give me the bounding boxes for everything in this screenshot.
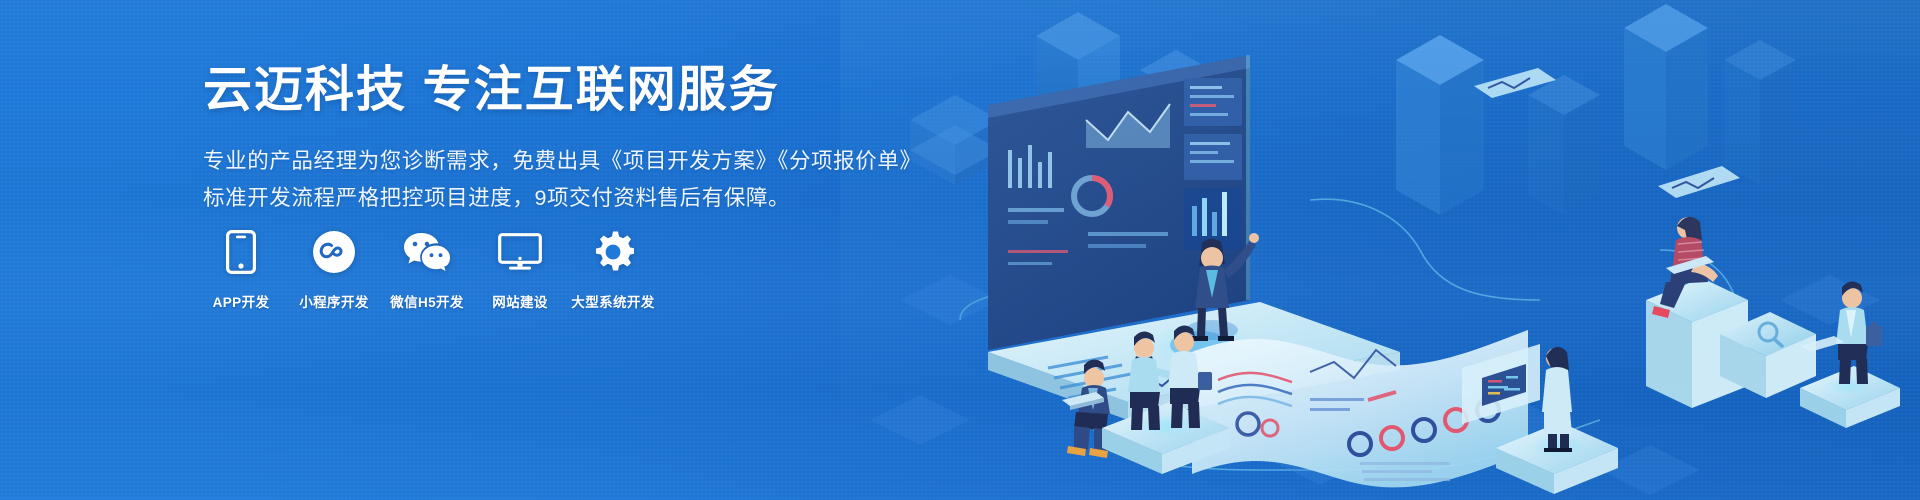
subtitle-line-2: 标准开发流程严格把控项目进度，9项交付资料售后有保障。 xyxy=(203,180,923,217)
hero-banner: 云迈科技 专注互联网服务 专业的产品经理为您诊断需求，免费出具《项目开发方案》《… xyxy=(0,0,1920,500)
wechat-icon xyxy=(403,228,451,276)
service-label: 网站建设 xyxy=(492,291,548,311)
service-item-wechat-h5[interactable]: 微信H5开发 xyxy=(391,228,463,311)
smartphone-icon xyxy=(217,228,265,276)
service-label: APP开发 xyxy=(213,291,270,311)
mini-program-icon xyxy=(310,228,358,276)
monitor-icon xyxy=(496,228,544,276)
service-item-large-system[interactable]: 大型系统开发 xyxy=(577,228,649,311)
service-item-mini-program[interactable]: 小程序开发 xyxy=(298,228,370,311)
service-item-website[interactable]: 网站建设 xyxy=(484,228,556,311)
service-label: 微信H5开发 xyxy=(390,291,464,311)
service-label: 大型系统开发 xyxy=(571,291,654,311)
subtitle-line-1: 专业的产品经理为您诊断需求，免费出具《项目开发方案》《分项报价单》 xyxy=(203,143,923,180)
hero-copy: 云迈科技 专注互联网服务 专业的产品经理为您诊断需求，免费出具《项目开发方案》《… xyxy=(203,62,923,217)
service-label: 小程序开发 xyxy=(299,291,369,311)
service-item-app[interactable]: APP开发 xyxy=(205,228,277,311)
page-title: 云迈科技 专注互联网服务 xyxy=(203,62,923,120)
gear-icon xyxy=(589,228,637,276)
illustration-container xyxy=(840,0,1920,500)
service-list: APP开发 小程序开发 xyxy=(205,228,649,311)
